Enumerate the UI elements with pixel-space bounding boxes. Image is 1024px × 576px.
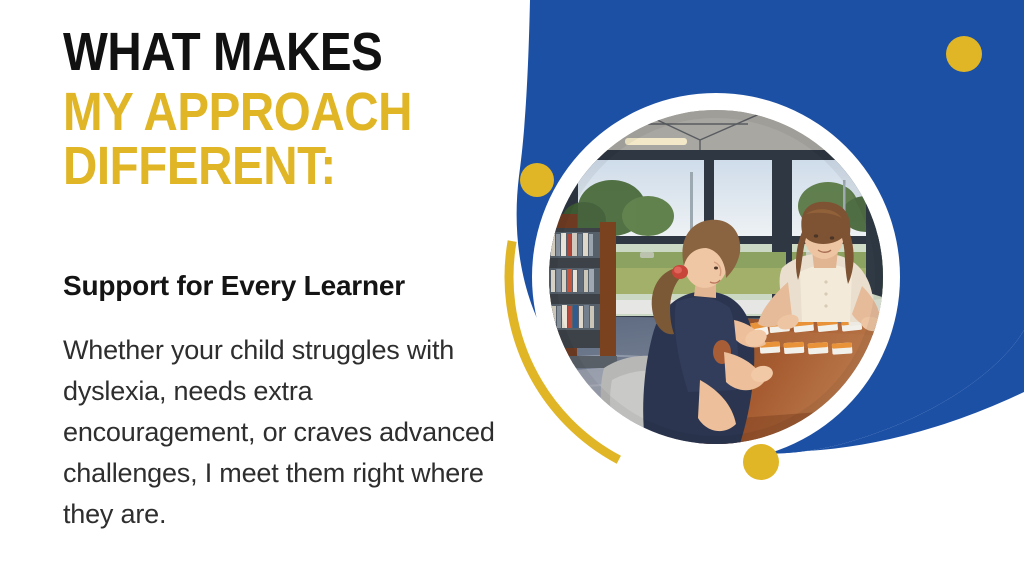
yellow-dot-top-right-icon — [946, 36, 982, 72]
headline-line-3: DIFFERENT: — [63, 140, 459, 193]
yellow-dot-arc-top-icon — [520, 163, 554, 197]
headline-block: WHAT MAKES MY APPROACH DIFFERENT: — [63, 26, 513, 193]
body-paragraph: Whether your child struggles with dyslex… — [63, 330, 503, 535]
yellow-dot-arc-bottom-icon — [743, 444, 779, 480]
slide-canvas: WHAT MAKES MY APPROACH DIFFERENT: Suppor… — [0, 0, 1024, 576]
headline-line-2: MY APPROACH — [63, 86, 459, 139]
headline-line-1: WHAT MAKES — [63, 26, 459, 79]
subheading: Support for Every Learner — [63, 270, 405, 302]
page-title: WHAT MAKES MY APPROACH DIFFERENT: — [63, 26, 459, 193]
